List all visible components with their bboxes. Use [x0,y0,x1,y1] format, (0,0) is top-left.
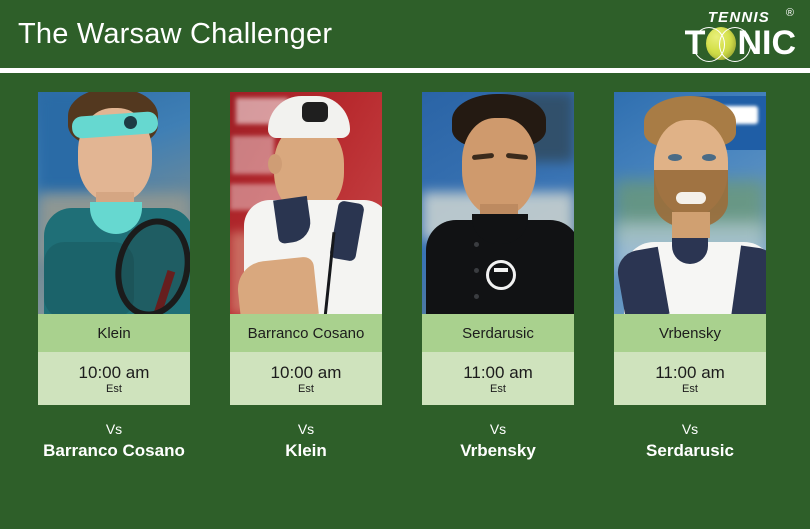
match-card[interactable]: Vrbensky 11:00 am Est Vs Serdarusic [614,92,766,463]
tennis-ball-icon [706,27,736,60]
match-timezone: Est [682,382,698,396]
header-divider [0,68,810,73]
match-timezone: Est [298,382,314,396]
vs-label: Vs [230,419,382,440]
match-card[interactable]: Barranco Cosano 10:00 am Est Vs Klein [230,92,382,463]
match-time: 11:00 am [463,363,533,383]
player-photo [230,92,382,314]
opponent-block: Vs Barranco Cosano [38,419,190,463]
page-title: The Warsaw Challenger [18,20,332,49]
player-name: Serdarusic [422,314,574,352]
match-time: 11:00 am [655,363,725,383]
match-timezone: Est [490,382,506,396]
match-time-box: 11:00 am Est [422,352,574,405]
opponent-block: Vs Serdarusic [614,419,766,463]
player-name: Klein [38,314,190,352]
match-cards-container: Klein 10:00 am Est Vs Barranco Cosano Ba… [0,92,810,502]
match-time-box: 10:00 am Est [230,352,382,405]
player-name: Vrbensky [614,314,766,352]
logo-bottom-text: T NIC [685,26,796,60]
match-time: 10:00 am [271,363,342,383]
match-time-box: 11:00 am Est [614,352,766,405]
opponent-name: Serdarusic [614,440,766,463]
vs-label: Vs [614,419,766,440]
match-card[interactable]: Serdarusic 11:00 am Est Vs Vrbensky [422,92,574,463]
vs-label: Vs [38,419,190,440]
match-timezone: Est [106,382,122,396]
match-card[interactable]: Klein 10:00 am Est Vs Barranco Cosano [38,92,190,463]
player-name: Barranco Cosano [230,314,382,352]
vs-label: Vs [422,419,574,440]
tennis-tonic-logo[interactable]: TENNIS ® T NIC [646,6,796,62]
player-photo [614,92,766,314]
match-time-box: 10:00 am Est [38,352,190,405]
player-photo [38,92,190,314]
opponent-name: Barranco Cosano [38,440,190,463]
opponent-block: Vs Klein [230,419,382,463]
page-header: The Warsaw Challenger TENNIS ® T NIC [0,0,810,68]
player-photo [422,92,574,314]
match-time: 10:00 am [79,363,150,383]
opponent-name: Vrbensky [422,440,574,463]
opponent-block: Vs Vrbensky [422,419,574,463]
registered-trademark-icon: ® [786,8,794,19]
opponent-name: Klein [230,440,382,463]
logo-top-text: TENNIS [708,10,770,25]
